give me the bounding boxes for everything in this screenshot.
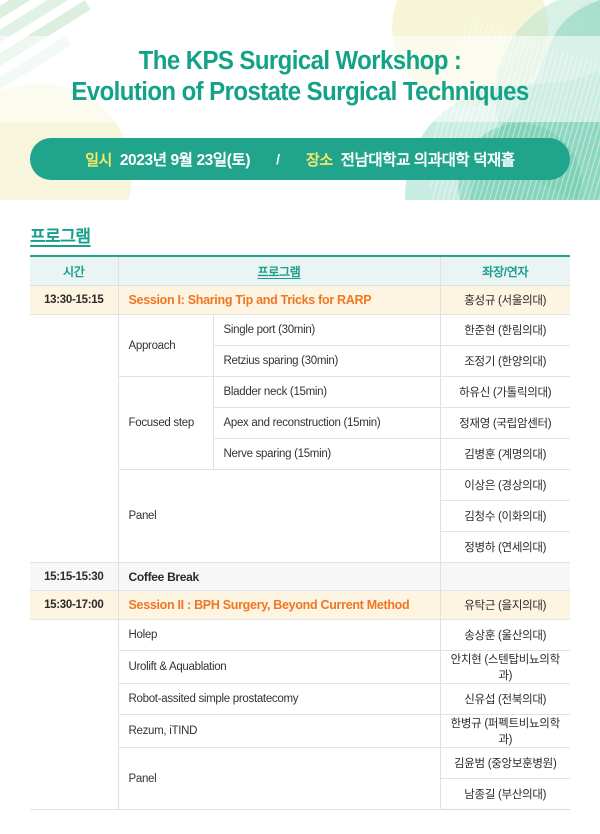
cell-time: 15:30-17:00 [30, 591, 118, 620]
cell-speaker: 유탁근 (을지의대) [440, 591, 570, 620]
cell-time: 13:30-15:15 [30, 286, 118, 315]
venue-value: 전남대학교 의과대학 덕재홀 [341, 148, 515, 170]
table-row: Holep 송상훈 (울산의대) [30, 620, 570, 651]
cell-speaker: 한준현 (한림의대) [440, 315, 570, 346]
page-title: The KPS Surgical Workshop : Evolution of… [0, 46, 600, 108]
cell-program: Urolift & Aquablation [118, 651, 440, 684]
cell-speaker: 정재영 (국립암센터) [440, 408, 570, 439]
date-value: 2023년 9월 23일(토) [120, 148, 250, 170]
cell-speaker [440, 563, 570, 591]
cell-program: Rezum, iTIND [118, 715, 440, 748]
cell-speaker: 이상은 (경상의대) [440, 470, 570, 501]
table-row: Approach Single port (30min) 한준현 (한림의대) [30, 315, 570, 346]
event-venue-group: 장소 전남대학교 의과대학 덕재홀 [306, 148, 515, 170]
cell-break-title: Coffee Break [118, 563, 440, 591]
cell-time-empty [30, 315, 118, 563]
header-program: 프로그램 [118, 256, 440, 286]
event-info-bar: 일시 2023년 9월 23일(토) / 장소 전남대학교 의과대학 덕재홀 [30, 138, 570, 180]
cell-speaker: 하유신 (가톨릭의대) [440, 377, 570, 408]
program-table-wrapper: 시간 프로그램 좌장/연자 13:30-15:15 Session I: Sha… [30, 255, 570, 810]
cell-speaker: 남종길 (부산의대) [440, 779, 570, 810]
info-separator: / [276, 151, 280, 167]
program-table: 시간 프로그램 좌장/연자 13:30-15:15 Session I: Sha… [30, 255, 570, 810]
cell-speaker: 홍성규 (서울의대) [440, 286, 570, 315]
title-line-2: Evolution of Prostate Surgical Technique… [18, 77, 582, 108]
header-speaker: 좌장/연자 [440, 256, 570, 286]
title-line-1: The KPS Surgical Workshop : [18, 46, 582, 77]
cell-session-title: Session I: Sharing Tip and Tricks for RA… [118, 286, 440, 315]
cell-speaker: 김병훈 (계명의대) [440, 439, 570, 470]
cell-group: Approach [118, 315, 213, 377]
table-header-row: 시간 프로그램 좌장/연자 [30, 256, 570, 286]
venue-label: 장소 [306, 149, 333, 170]
cell-detail: Bladder neck (15min) [213, 377, 440, 408]
cell-speaker: 신유섭 (전북의대) [440, 684, 570, 715]
cell-program: Holep [118, 620, 440, 651]
cell-group: Focused step [118, 377, 213, 470]
table-row: 15:15-15:30 Coffee Break [30, 563, 570, 591]
header-time: 시간 [30, 256, 118, 286]
event-date-group: 일시 2023년 9월 23일(토) [85, 148, 250, 170]
cell-session-title: Session II : BPH Surgery, Beyond Current… [118, 591, 440, 620]
hero-banner: The KPS Surgical Workshop : Evolution of… [0, 0, 600, 200]
cell-speaker: 한병규 (퍼펙트비뇨의학과) [440, 715, 570, 748]
date-label: 일시 [85, 149, 112, 170]
cell-speaker: 김윤범 (중앙보훈병원) [440, 748, 570, 779]
cell-speaker: 안치현 (스텐탑비뇨의학과) [440, 651, 570, 684]
table-body: 13:30-15:15 Session I: Sharing Tip and T… [30, 286, 570, 810]
program-section-title: 프로그램 [30, 222, 91, 247]
cell-detail: Apex and reconstruction (15min) [213, 408, 440, 439]
cell-time: 15:15-15:30 [30, 563, 118, 591]
cell-panel-label: Panel [118, 748, 440, 810]
cell-speaker: 김청수 (이화의대) [440, 501, 570, 532]
cell-speaker: 송상훈 (울산의대) [440, 620, 570, 651]
table-row: 15:30-17:00 Session II : BPH Surgery, Be… [30, 591, 570, 620]
cell-detail: Nerve sparing (15min) [213, 439, 440, 470]
cell-speaker: 조정기 (한양의대) [440, 346, 570, 377]
cell-panel-label: Panel [118, 470, 440, 563]
cell-time-empty [30, 620, 118, 810]
cell-detail: Retzius sparing (30min) [213, 346, 440, 377]
cell-detail: Single port (30min) [213, 315, 440, 346]
cell-speaker: 정병하 (연세의대) [440, 532, 570, 563]
cell-program: Robot-assited simple prostatecomy [118, 684, 440, 715]
table-row: 13:30-15:15 Session I: Sharing Tip and T… [30, 286, 570, 315]
